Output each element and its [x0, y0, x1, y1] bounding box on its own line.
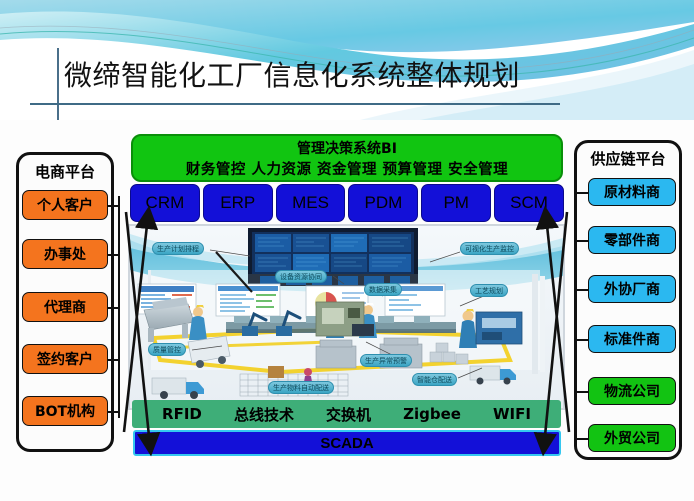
system-box-scm[interactable]: SCM — [494, 184, 564, 222]
supplier-item-standard-parts[interactable]: 标准件商 — [588, 325, 676, 353]
system-modules-row: CRM ERP MES PDM PM SCM — [130, 184, 564, 222]
left-platform-title: 电商平台 — [19, 161, 111, 182]
system-box-label: PDM — [365, 193, 403, 213]
network-item-fieldbus: 总线技术 — [234, 404, 294, 425]
network-item-rfid: RFID — [162, 405, 202, 423]
callout-label: 生产物料自动配送 — [273, 383, 329, 393]
supplier-item-foreign-trade[interactable]: 外贸公司 — [588, 424, 676, 452]
chip-label: 零部件商 — [604, 230, 660, 250]
chip-label: 个人客户 — [37, 195, 93, 215]
sidebar-item-personal-customer[interactable]: 个人客户 — [22, 190, 108, 220]
chip-label: 外协厂商 — [604, 279, 660, 299]
right-connector-stub-1 — [576, 192, 588, 194]
callout-label: 生产计划排程 — [157, 244, 199, 254]
callout-label: 质量管控 — [153, 345, 181, 355]
callout-label: 数据采集 — [369, 285, 397, 295]
title-horizontal-rule — [30, 103, 560, 105]
right-connector-stub-3 — [576, 289, 588, 291]
sidebar-item-office[interactable]: 办事处 — [22, 239, 108, 269]
callout-label: 生产异常预警 — [365, 356, 407, 366]
system-box-erp[interactable]: ERP — [203, 184, 273, 222]
chip-label: 签约客户 — [37, 349, 93, 369]
callout-label: 可视化生产监控 — [465, 244, 514, 254]
callout-equipment-collaboration: 设备资源协同 — [275, 270, 327, 283]
chip-label: 物流公司 — [604, 381, 660, 401]
chip-label: 代理商 — [44, 297, 86, 317]
bi-header-banner: 管理决策系统BI 财务管控 人力资源 资金管理 预算管理 安全管理 — [131, 134, 563, 182]
sidebar-item-contract-customer[interactable]: 签约客户 — [22, 344, 108, 374]
supplier-item-logistics[interactable]: 物流公司 — [588, 377, 676, 405]
supplier-item-components[interactable]: 零部件商 — [588, 226, 676, 254]
chip-label: 原材料商 — [604, 182, 660, 202]
left-connector-spine — [118, 196, 120, 418]
callout-process-planning: 工艺规划 — [470, 284, 508, 297]
chip-label: 标准件商 — [604, 329, 660, 349]
callout-data-collection: 数据采集 — [364, 283, 402, 296]
right-connector-stub-5 — [576, 391, 588, 393]
right-connector-spine — [574, 182, 576, 444]
right-connector-stub-6 — [576, 438, 588, 440]
supplier-item-raw-material[interactable]: 原材料商 — [588, 178, 676, 206]
header-banner: 微缔智能化工厂信息化系统整体规划 — [0, 0, 694, 120]
callout-visual-monitoring: 可视化生产监控 — [460, 242, 519, 255]
chip-label: 办事处 — [44, 244, 86, 264]
right-platform-title: 供应链平台 — [577, 148, 679, 169]
network-item-switch: 交换机 — [326, 404, 371, 425]
network-item-wifi: WIFI — [493, 405, 531, 423]
system-box-label: ERP — [220, 193, 255, 213]
network-technology-bar: RFID 总线技术 交换机 Zigbee WIFI — [132, 400, 561, 428]
scada-label: SCADA — [320, 435, 373, 452]
right-connector-stub-4 — [576, 339, 588, 341]
system-box-label: CRM — [146, 193, 185, 213]
supplier-item-outsourcing[interactable]: 外协厂商 — [588, 275, 676, 303]
callout-quality-control: 质量管控 — [148, 343, 186, 356]
callout-smart-warehouse: 智能仓配送 — [412, 373, 457, 386]
title-vertical-rule — [57, 48, 59, 120]
system-box-label: SCM — [510, 193, 548, 213]
bi-title: 管理决策系统BI — [133, 136, 561, 159]
right-connector-stub-2 — [576, 240, 588, 242]
system-box-pm[interactable]: PM — [421, 184, 491, 222]
chip-label: 外贸公司 — [604, 428, 660, 448]
sidebar-item-agent[interactable]: 代理商 — [22, 292, 108, 322]
callout-label: 工艺规划 — [475, 286, 503, 296]
system-box-mes[interactable]: MES — [276, 184, 346, 222]
callout-material-auto-delivery: 生产物料自动配送 — [268, 381, 334, 394]
callout-production-planning: 生产计划排程 — [152, 242, 204, 255]
sidebar-item-bot-organization[interactable]: BOT机构 — [22, 396, 108, 426]
callout-label: 智能仓配送 — [417, 375, 452, 385]
bi-subtitle: 财务管控 人力资源 资金管理 预算管理 安全管理 — [133, 159, 561, 181]
network-item-zigbee: Zigbee — [403, 405, 461, 423]
system-box-pdm[interactable]: PDM — [348, 184, 418, 222]
chip-label: BOT机构 — [35, 401, 95, 421]
slide-canvas: 微缔智能化工厂信息化系统整体规划 电商平台 个人客户 办事处 代理商 签约客户 … — [0, 0, 694, 501]
scada-bar: SCADA — [133, 430, 561, 456]
page-title: 微缔智能化工厂信息化系统整体规划 — [64, 59, 520, 93]
system-box-label: PM — [443, 193, 469, 213]
callout-label: 设备资源协同 — [280, 272, 322, 282]
system-box-crm[interactable]: CRM — [130, 184, 200, 222]
callout-abnormality-alert: 生产异常预警 — [360, 354, 412, 367]
factory-illustration-frame: 生产计划排程 设备资源协同 可视化生产监控 数据采集 工艺规划 质量管控 生产异… — [128, 224, 565, 410]
system-box-label: MES — [292, 193, 329, 213]
